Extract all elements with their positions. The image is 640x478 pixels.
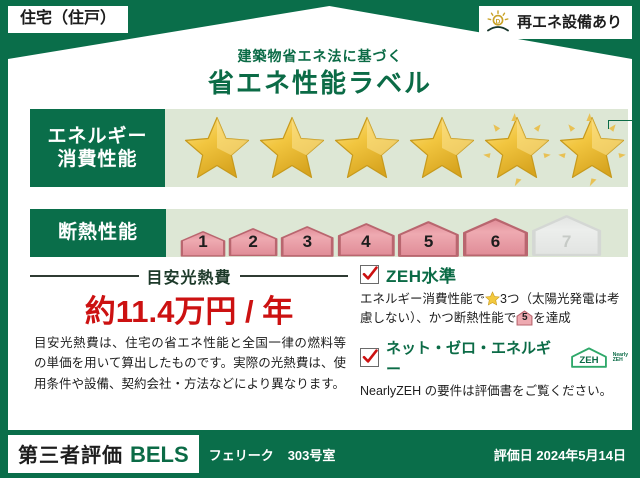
net-zero-energy-heading: ネット・ゼロ・エネルギー ZEH Nearly ZEH: [360, 337, 628, 379]
bels-en-label: BELS: [130, 442, 189, 468]
zeh-standard-body-a: エネルギー消費性能で: [360, 292, 485, 306]
heading-rule-right: [240, 275, 349, 277]
energy-performance-row: エネルギー 消費性能 太陽光発電(自家消費)分: [30, 109, 628, 187]
net-zero-energy-item: ネット・ゼロ・エネルギー ZEH Nearly ZEH NearlyZEH の要…: [360, 337, 628, 401]
energy-cost-note: 目安光熱費は、住宅の省エネ性能と全国一律の燃料等の単価を用いて算出したものです。…: [34, 333, 346, 394]
star-icon: [484, 115, 550, 181]
insulation-grade-7: 7: [531, 215, 602, 257]
check-icon: [362, 349, 378, 365]
inline-house-badge: 5: [516, 310, 533, 326]
insulation-grade-5: 5: [397, 221, 460, 257]
zeh-logo-icon: ZEH: [569, 346, 609, 370]
star-5: [481, 112, 553, 184]
star-icon: [259, 115, 325, 181]
check-icon: [362, 266, 378, 282]
inline-star-icon: [485, 291, 500, 306]
energy-cost-value: 約11.4万円 / 年: [30, 286, 348, 331]
insulation-grade-number: 7: [562, 232, 571, 257]
insulation-performance-body: 1234567: [166, 209, 628, 257]
zeh-logo-sub2: ZEH: [613, 358, 628, 363]
energy-performance-label: エネルギー 消費性能: [30, 109, 165, 187]
star-icon: [334, 115, 400, 181]
insulation-grade-4: 4: [337, 223, 396, 257]
net-zero-energy-title: ネット・ゼロ・エネルギー: [386, 337, 562, 379]
energy-star-rating: [165, 112, 628, 184]
label-root: 建築物省エネ法に基づく 省エネ性能ラベル エネルギー 消費性能 太陽光発電(自家…: [0, 0, 640, 478]
insulation-grade-number: 2: [248, 232, 257, 257]
insulation-grade-number: 6: [491, 232, 500, 257]
evaluation-date: 評価日 2024年5月14日: [494, 445, 626, 464]
label-main-title: 省エネ性能ラベル: [8, 63, 632, 100]
svg-text:D: D: [496, 18, 501, 25]
energy-cost-heading-text: 目安光熱費: [147, 264, 232, 288]
star-icon: [559, 115, 625, 181]
inline-house-number: 5: [516, 310, 533, 326]
renewable-energy-badge: D 再エネ設備あり: [479, 6, 632, 39]
energy-cost-heading: 目安光熱費: [30, 264, 348, 288]
star-4: [406, 112, 478, 184]
room-number: 303号室: [288, 445, 336, 464]
insulation-label-line1: 断熱性能: [58, 221, 138, 244]
insulation-grade-number: 4: [361, 232, 370, 257]
building-name: フェリーク: [209, 445, 274, 464]
insulation-performance-label: 断熱性能: [30, 209, 166, 257]
energy-performance-body: 太陽光発電(自家消費)分: [165, 109, 628, 187]
insulation-grade-2: 2: [228, 228, 278, 257]
net-zero-energy-body: NearlyZEH の要件は評価書をご覧ください。: [360, 382, 628, 401]
zeh-standard-checkbox[interactable]: [360, 265, 379, 284]
energy-label-line1: エネルギー: [47, 125, 147, 148]
star-icon: [184, 115, 250, 181]
heading-rule-left: [30, 275, 139, 277]
zeh-standard-title: ZEH水準: [386, 262, 457, 287]
bels-badge: 第三者評価 BELS: [8, 435, 199, 473]
insulation-grade-number: 3: [303, 232, 312, 257]
star-icon: [409, 115, 475, 181]
star-2: [256, 112, 328, 184]
star-1: [181, 112, 253, 184]
insulation-grade-number: 1: [198, 232, 207, 257]
insulation-performance-row: 断熱性能 1234567: [30, 209, 628, 257]
bels-jp-label: 第三者評価: [18, 439, 123, 468]
zeh-standard-body: エネルギー消費性能で3つ（太陽光発電は考慮しない）、かつ断熱性能で5を達成: [360, 290, 628, 329]
zeh-standard-body-c: を達成: [533, 311, 571, 325]
net-zero-energy-checkbox[interactable]: [360, 348, 379, 367]
zeh-standard-heading: ZEH水準: [360, 262, 628, 287]
main-panel: 建築物省エネ法に基づく 省エネ性能ラベル エネルギー 消費性能 太陽光発電(自家…: [8, 6, 632, 430]
footer-bar: 第三者評価 BELS フェリーク 303号室 評価日 2024年5月14日: [0, 430, 640, 478]
insulation-grade-number: 5: [424, 232, 433, 257]
svg-text:ZEH: ZEH: [579, 355, 598, 366]
category-tag: 住宅（住戸）: [8, 6, 128, 33]
renewable-energy-badge-label: 再エネ設備あり: [517, 15, 622, 30]
insulation-grade-1: 1: [180, 231, 226, 257]
star-6: [556, 112, 628, 184]
energy-label-line2: 消費性能: [57, 148, 137, 171]
zeh-section: ZEH水準 エネルギー消費性能で3つ（太陽光発電は考慮しない）、かつ断熱性能で5…: [360, 262, 628, 409]
star-3: [331, 112, 403, 184]
insulation-grade-6: 6: [462, 218, 529, 257]
insulation-grade-3: 3: [280, 226, 334, 257]
insulation-grade-scale: 1234567: [166, 209, 602, 257]
zeh-standard-item: ZEH水準 エネルギー消費性能で3つ（太陽光発電は考慮しない）、かつ断熱性能で5…: [360, 262, 628, 329]
sun-icon: D: [485, 10, 511, 34]
